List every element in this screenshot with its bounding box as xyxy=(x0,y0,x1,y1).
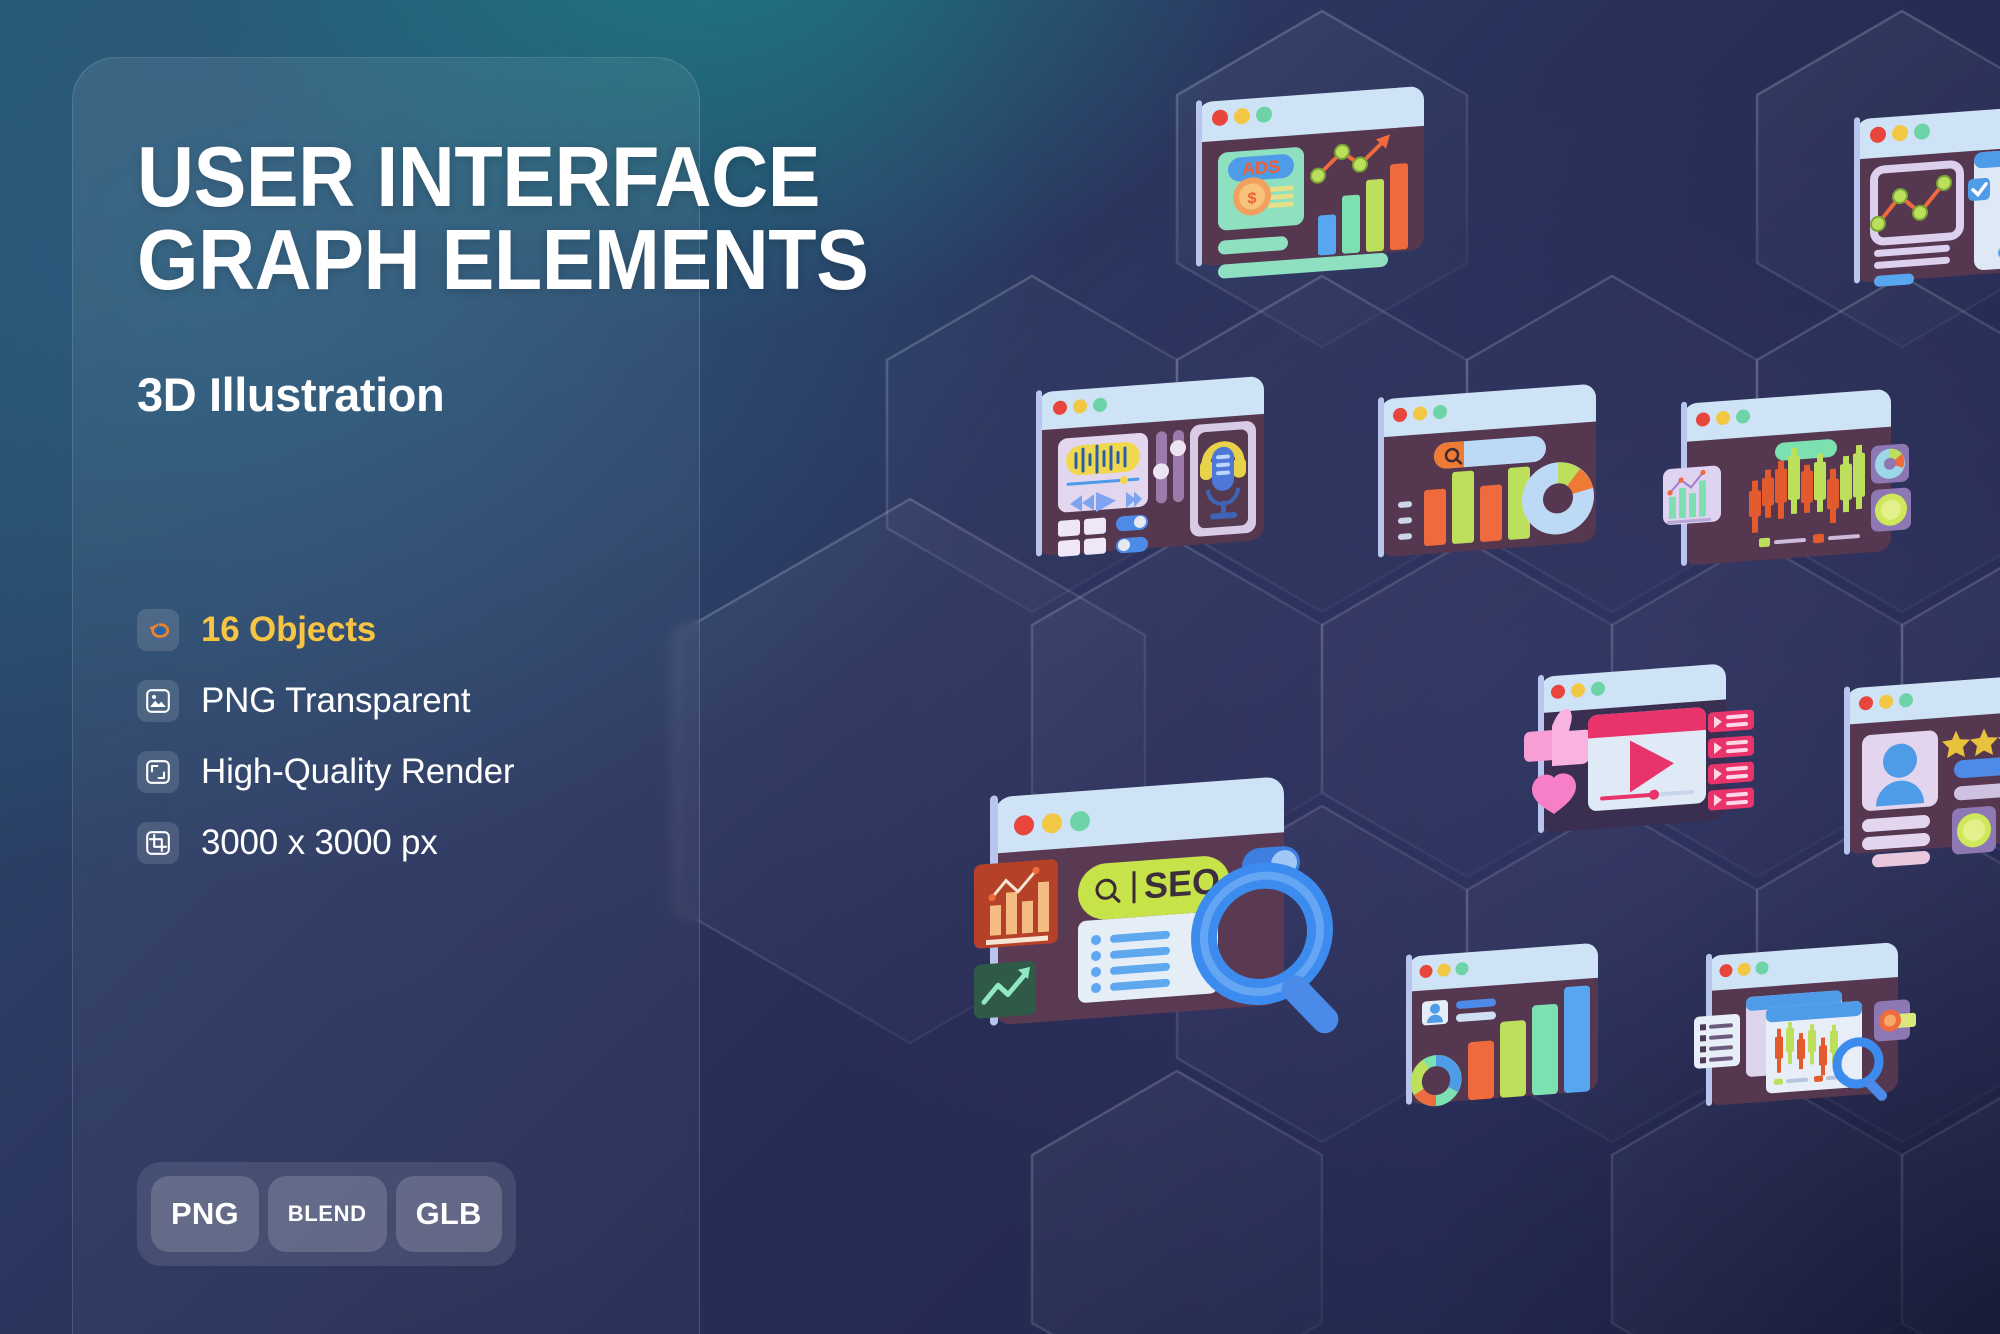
candlestick-trading-window xyxy=(1655,378,1925,593)
feature-list: 16 Objects PNG Transparent xyxy=(137,595,699,879)
svg-text:$: $ xyxy=(1248,189,1257,208)
resize-icon xyxy=(137,751,179,793)
poster-canvas: ADS $ xyxy=(0,0,2000,1334)
bar-chart-report-window xyxy=(1390,930,1620,1130)
crop-icon xyxy=(137,822,179,864)
ads-analytics-window: ADS $ xyxy=(1190,75,1440,290)
feature-label: 3000 x 3000 px xyxy=(201,823,438,863)
title-line-1: USER INTERFACE xyxy=(137,136,660,219)
svg-text:ADS: ADS xyxy=(1242,156,1280,179)
stock-analysis-window xyxy=(1680,930,1930,1130)
feature-label: PNG Transparent xyxy=(201,681,470,721)
feature-label: High-Quality Render xyxy=(201,752,514,792)
search-bar-chart-window xyxy=(1372,372,1612,582)
feature-row-render: High-Quality Render xyxy=(137,737,699,808)
seo-search-window: SEO xyxy=(960,760,1380,1120)
feature-row-objects: 16 Objects xyxy=(137,595,699,666)
format-badge-blend[interactable]: BLEND xyxy=(268,1176,387,1252)
info-panel: USER INTERFACE GRAPH ELEMENTS 3D Illustr… xyxy=(72,57,700,1334)
blender-icon xyxy=(137,609,179,651)
format-badge-group: PNG BLEND GLB xyxy=(137,1162,516,1266)
feature-row-png: PNG Transparent xyxy=(137,666,699,737)
title-line-2: GRAPH ELEMENTS xyxy=(137,219,660,302)
format-badge-glb[interactable]: GLB xyxy=(396,1176,502,1252)
feature-label: 16 Objects xyxy=(201,610,376,650)
feature-row-dimensions: 3000 x 3000 px xyxy=(137,808,699,879)
page-title: USER INTERFACE GRAPH ELEMENTS xyxy=(137,136,660,303)
page-subtitle: 3D Illustration xyxy=(137,367,699,422)
image-icon xyxy=(137,680,179,722)
video-player-window xyxy=(1500,652,1770,867)
line-pie-dashboard-window xyxy=(1848,92,2000,307)
user-profile-rating-window xyxy=(1828,662,2000,877)
format-badge-png[interactable]: PNG xyxy=(151,1176,259,1252)
audio-podcast-window xyxy=(1030,365,1280,580)
